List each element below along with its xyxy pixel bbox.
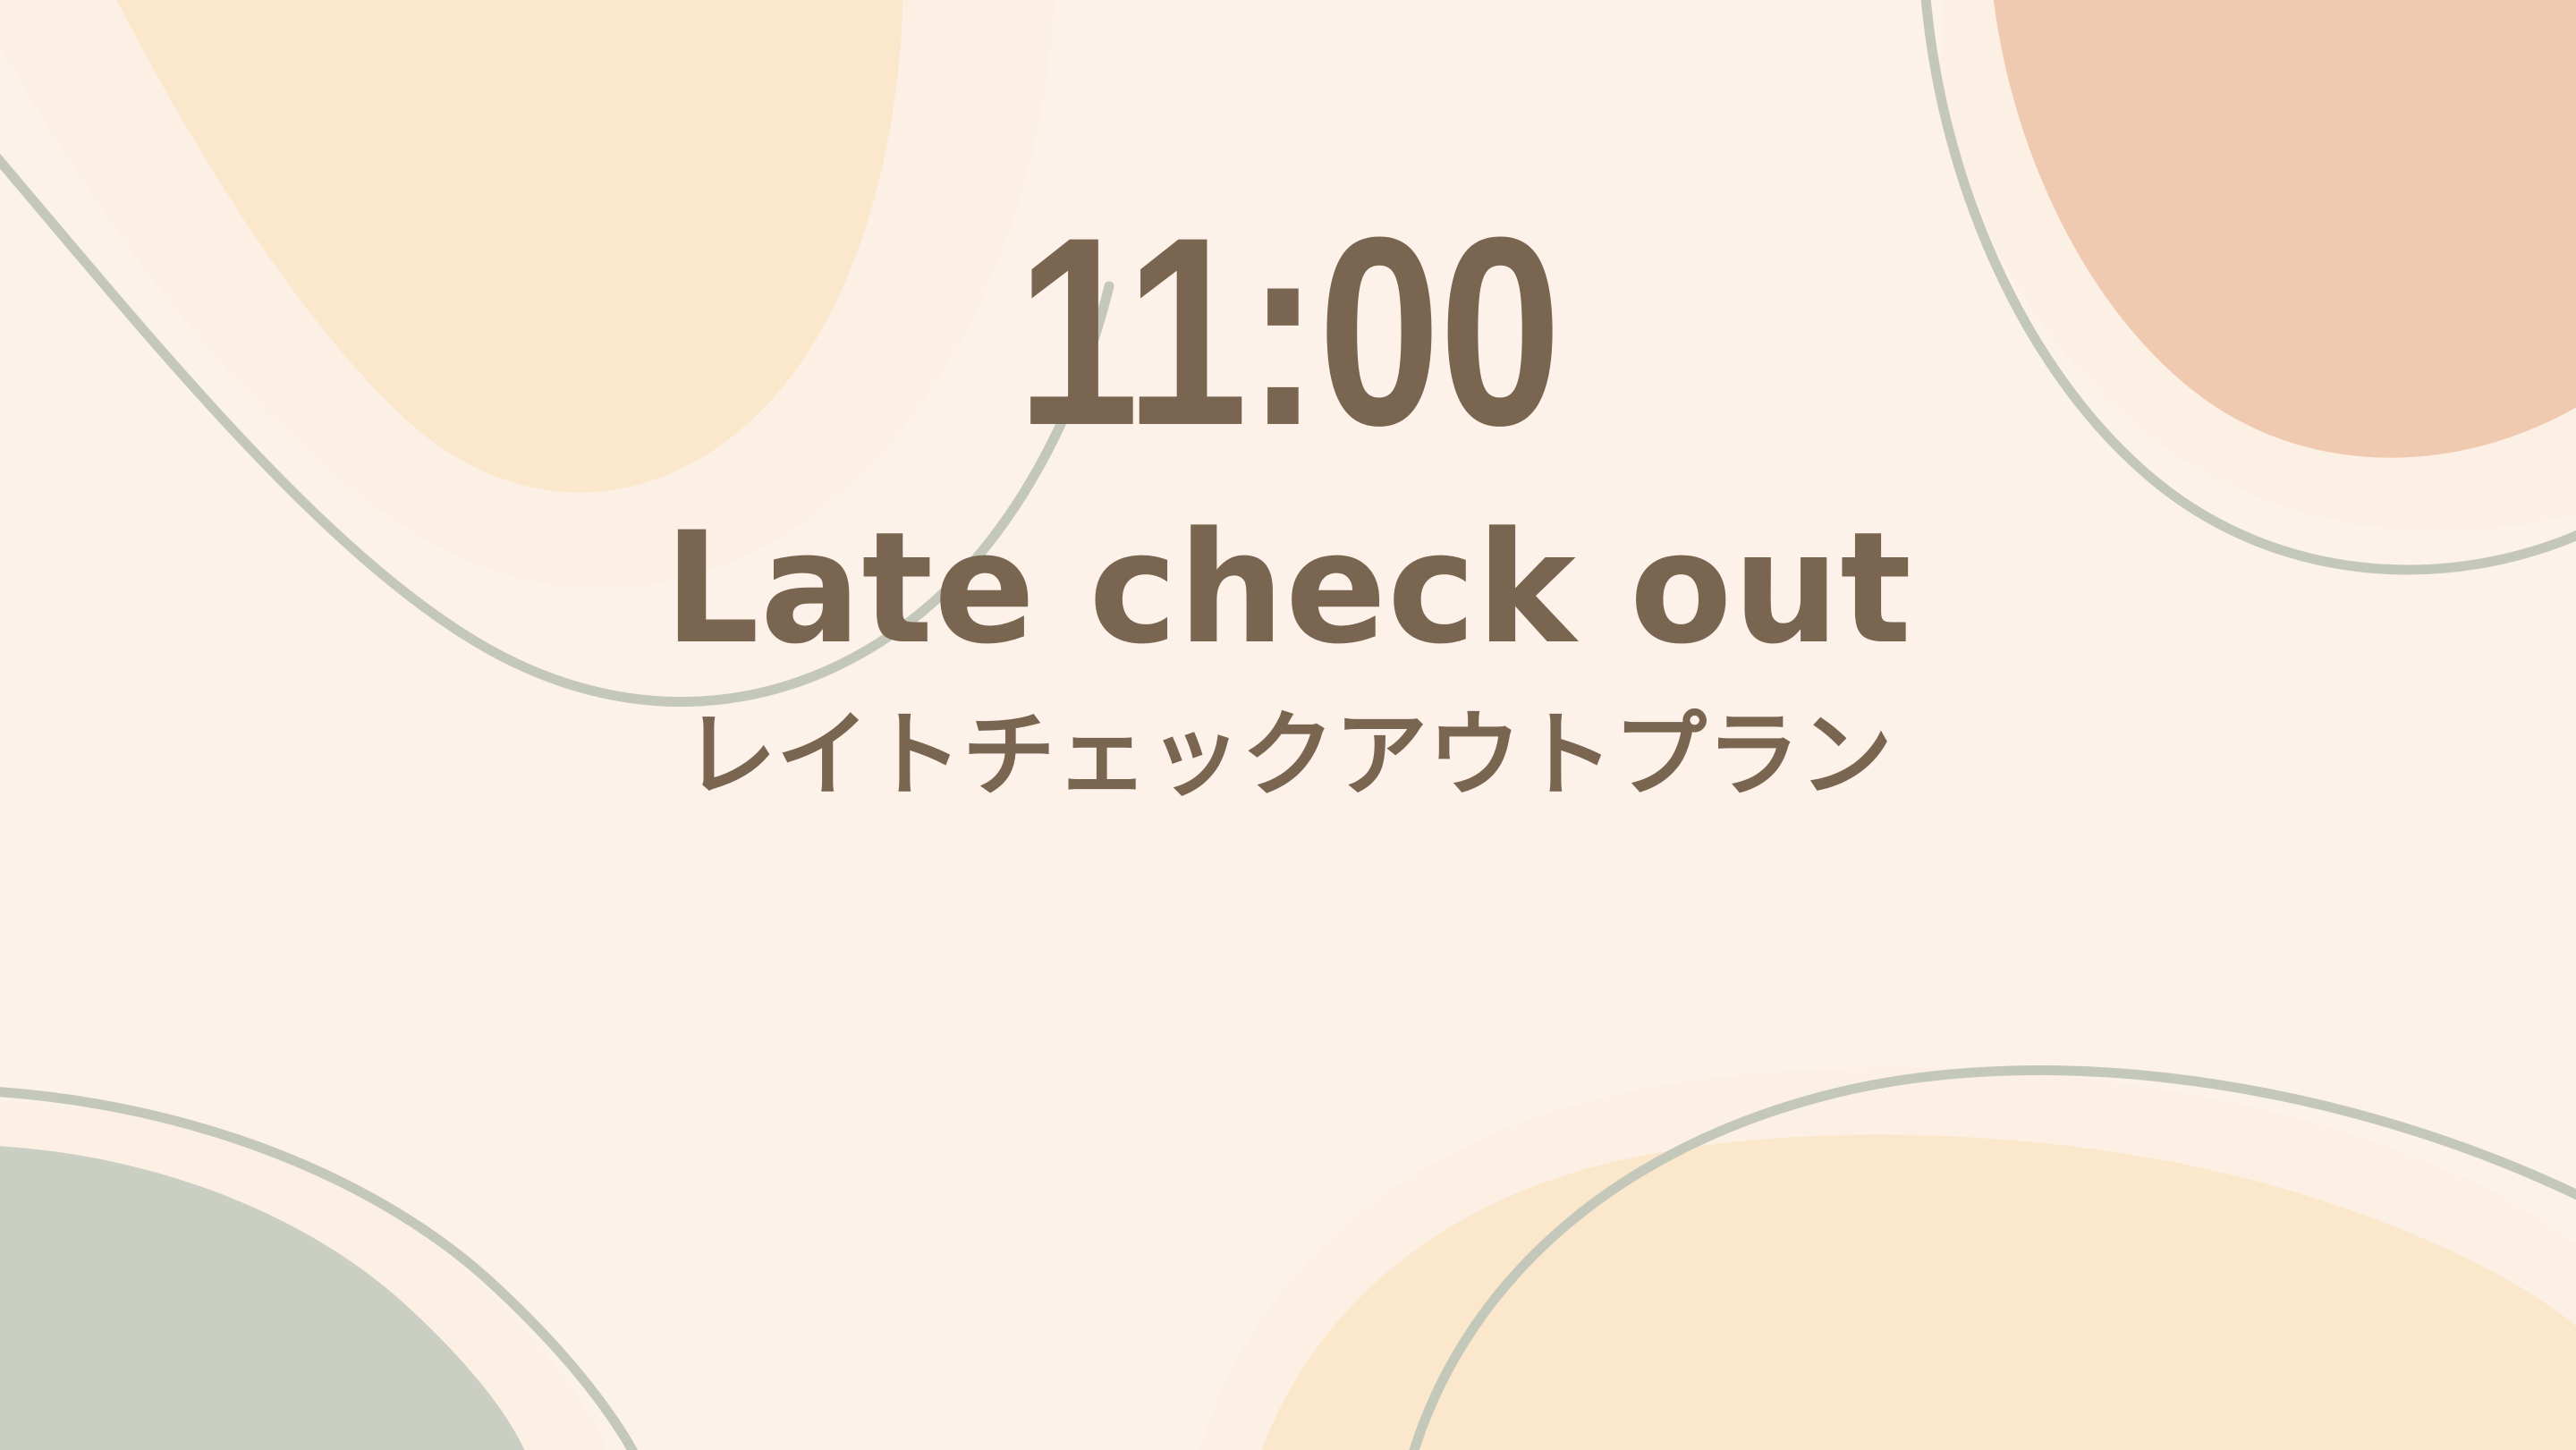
poster-canvas: 11:00 Late check out レイトチェックアウトプラン <box>0 0 2576 1450</box>
page-title: Late check out <box>664 505 1911 672</box>
checkout-time: 11:00 <box>1016 204 1559 459</box>
poster-content: 11:00 Late check out レイトチェックアウトプラン <box>0 0 2576 1450</box>
page-subtitle-japanese: レイトチェックアウトプラン <box>683 704 1893 806</box>
